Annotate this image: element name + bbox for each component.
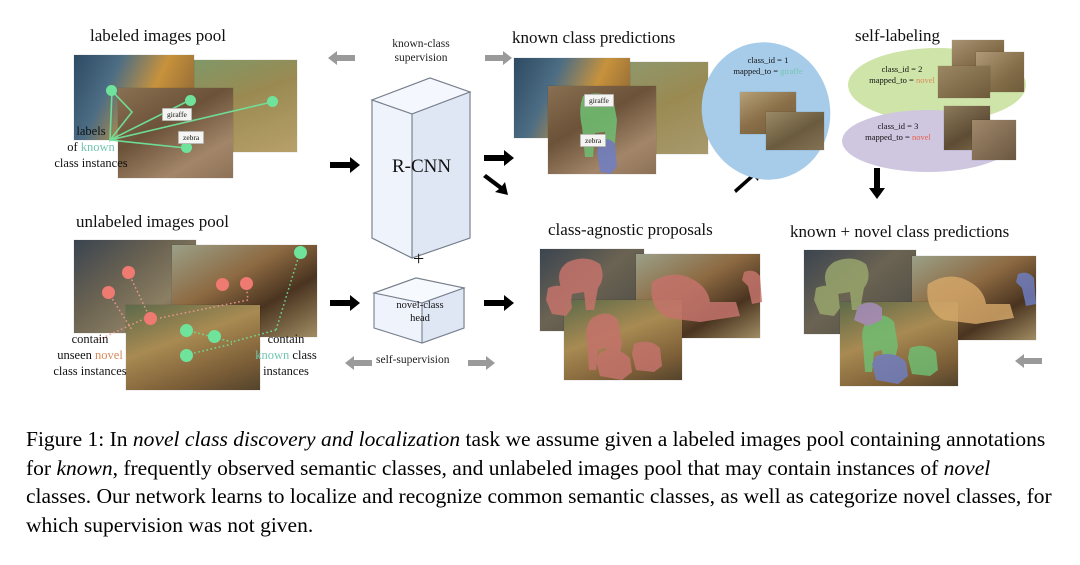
caption-seg3: , frequently observed semantic classes, … bbox=[113, 456, 944, 480]
caption-seg1: In bbox=[104, 427, 133, 451]
caption-italic-novel: novel bbox=[944, 456, 991, 480]
caption-italic-known: known bbox=[56, 456, 112, 480]
caption-prefix: Figure 1: bbox=[26, 427, 104, 451]
known-novel-masks bbox=[0, 0, 1080, 410]
figure-diagram: labeled images pool giraffe zebra labels… bbox=[0, 0, 1080, 410]
caption-seg4: classes. Our network learns to localize … bbox=[26, 484, 1052, 537]
caption-italic-task: novel class discovery and localization bbox=[133, 427, 460, 451]
figure-caption: Figure 1: In novel class discovery and l… bbox=[26, 425, 1058, 539]
